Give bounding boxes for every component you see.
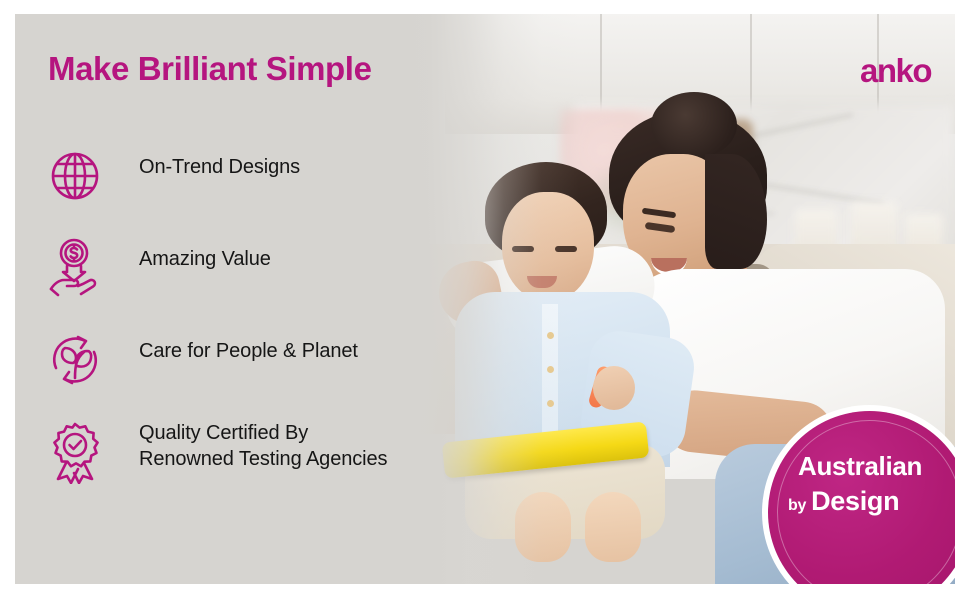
badge-line-australian: Australian	[778, 451, 955, 481]
quality-badge-icon	[43, 420, 107, 484]
feature-label: Care for People & Planet	[139, 338, 358, 364]
feature-item-care-for-people-and-planet: Care for People & Planet	[35, 324, 465, 416]
anko-marketing-banner: Make Brilliant Simple anko	[0, 0, 970, 600]
globe-icon	[43, 144, 107, 208]
badge-line-by-design: byDesign	[778, 485, 955, 522]
feature-label: Amazing Value	[139, 246, 271, 272]
badge-text: Australian byDesign	[778, 451, 955, 522]
badge-word-by: by	[788, 497, 806, 514]
feature-label: Quality Certified By Renowned Testing Ag…	[139, 420, 387, 472]
feature-item-quality-certified: Quality Certified By Renowned Testing Ag…	[35, 416, 465, 508]
badge-word-design: Design	[811, 486, 899, 516]
feature-list: On-Trend Designs	[35, 140, 465, 508]
australian-by-design-badge: Australian byDesign	[762, 405, 955, 584]
feature-item-amazing-value: Amazing Value	[35, 232, 465, 324]
anko-logo: anko	[860, 52, 931, 90]
banner-card: Make Brilliant Simple anko	[15, 14, 955, 584]
feature-label: On-Trend Designs	[139, 154, 300, 180]
coin-hand-icon	[43, 236, 107, 300]
feature-item-on-trend-designs: On-Trend Designs	[35, 140, 465, 232]
content-layer: Make Brilliant Simple anko	[15, 14, 955, 584]
page-title: Make Brilliant Simple	[48, 50, 372, 88]
recycle-leaf-icon	[43, 328, 107, 392]
